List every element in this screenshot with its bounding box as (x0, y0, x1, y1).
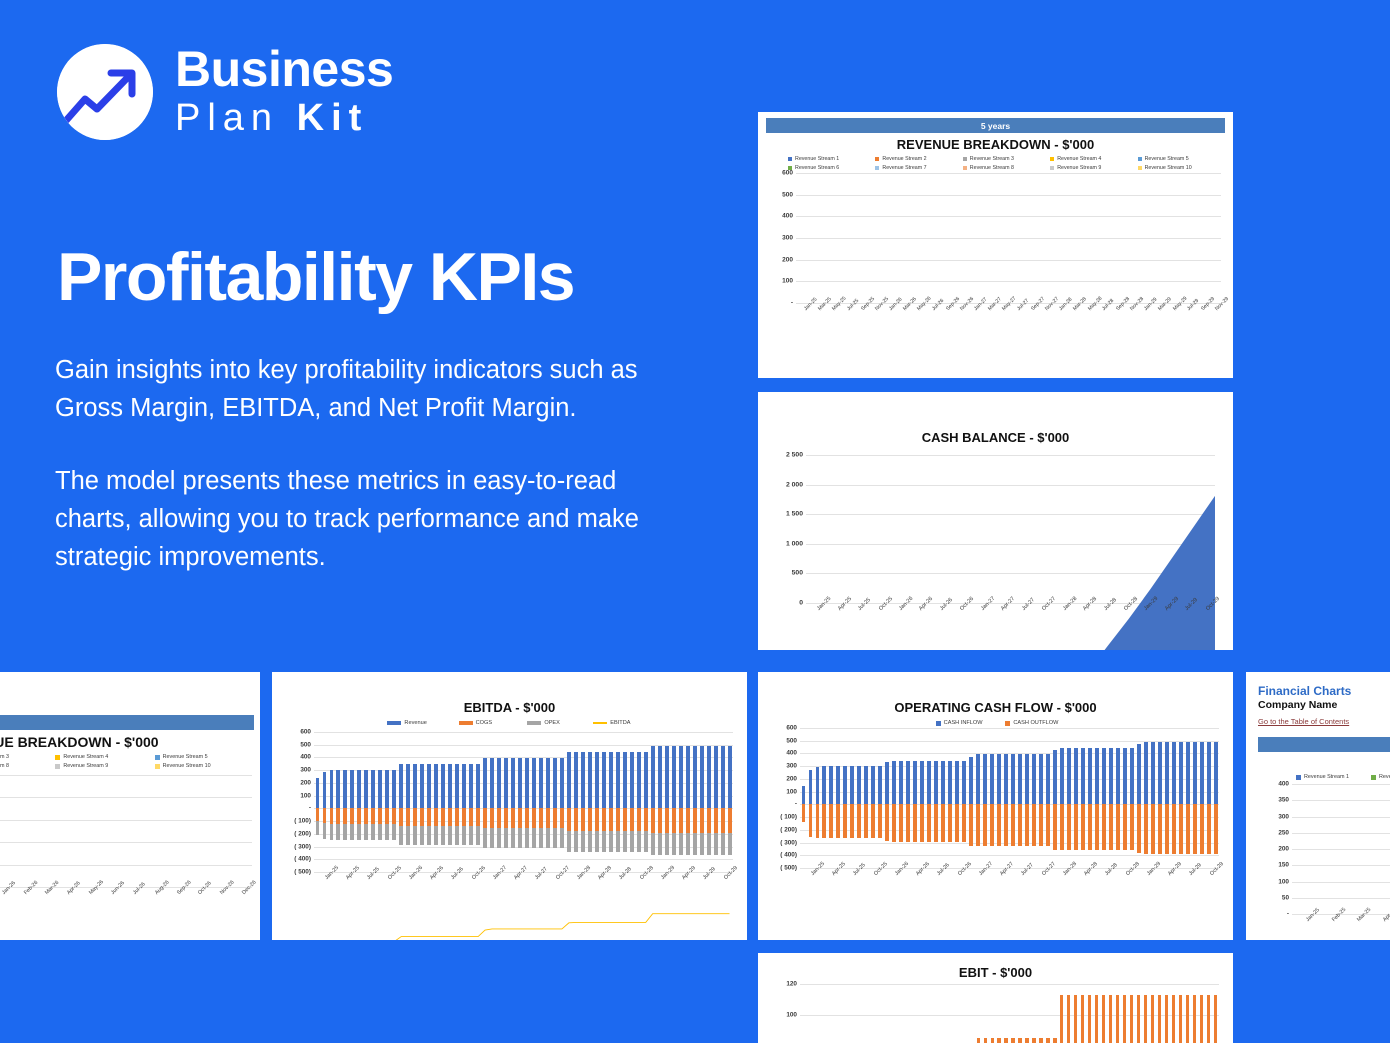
bar-column[interactable] (863, 984, 870, 1043)
bar-column[interactable] (1191, 728, 1198, 868)
bar-column[interactable] (1205, 728, 1212, 868)
bar-column[interactable] (891, 984, 898, 1043)
bar-column[interactable] (1135, 728, 1142, 868)
legend-item[interactable]: Revenue Stream 2 (875, 156, 962, 162)
bar-column[interactable] (684, 732, 691, 872)
bar-column[interactable] (12, 775, 34, 887)
bar-column[interactable] (874, 173, 881, 303)
bar-segment (1144, 804, 1148, 854)
bar-column[interactable] (1115, 173, 1122, 303)
bar-column[interactable] (831, 173, 838, 303)
bar-column[interactable] (1212, 984, 1219, 1043)
bar-column[interactable] (919, 984, 926, 1043)
bar-column[interactable] (1214, 173, 1221, 303)
bar-column[interactable] (1128, 728, 1135, 868)
bar-column[interactable] (412, 732, 419, 872)
bar-column[interactable] (121, 775, 143, 887)
bar-column[interactable] (482, 732, 489, 872)
bar-column[interactable] (1079, 173, 1086, 303)
bar-column[interactable] (1292, 784, 1318, 914)
bar-column[interactable] (821, 984, 828, 1043)
bar-segment (1004, 804, 1008, 846)
bar-column[interactable] (1015, 173, 1022, 303)
bar-column[interactable] (370, 732, 377, 872)
bar-column[interactable] (1107, 984, 1114, 1043)
bar-column[interactable] (1185, 173, 1192, 303)
legend-item[interactable]: EBITDA (578, 720, 646, 726)
bar-column[interactable] (1051, 728, 1058, 868)
legend-item[interactable]: Revenue Stream 3 (0, 754, 55, 760)
bar-column[interactable] (1205, 984, 1212, 1043)
bar-column[interactable] (902, 173, 909, 303)
legend-item[interactable]: Revenue Stream 8 (0, 763, 55, 769)
bar-column[interactable] (938, 173, 945, 303)
bar-column[interactable] (356, 732, 363, 872)
bar-column[interactable] (888, 173, 895, 303)
bar-column[interactable] (593, 732, 600, 872)
bar-column[interactable] (208, 775, 230, 887)
bar-column[interactable] (726, 732, 733, 872)
bar-column[interactable] (0, 775, 12, 887)
bar-column[interactable] (940, 728, 947, 868)
bar-column[interactable] (496, 732, 503, 872)
bar-column[interactable] (1079, 984, 1086, 1043)
bar-column[interactable] (961, 984, 968, 1043)
bar-column[interactable] (867, 173, 874, 303)
bar-segment (1081, 748, 1085, 804)
bar-column[interactable] (1072, 173, 1079, 303)
bar-column[interactable] (828, 984, 835, 1043)
bar-segment (371, 808, 375, 823)
bar-column[interactable] (33, 775, 55, 887)
bar-column[interactable] (335, 732, 342, 872)
table-of-contents-link[interactable]: Go to the Table of Contents (1258, 717, 1349, 726)
bar-column[interactable] (849, 984, 856, 1043)
bar-column[interactable] (405, 732, 412, 872)
bar-column[interactable] (945, 173, 952, 303)
bar-segment (595, 752, 599, 808)
bar-column[interactable] (1100, 728, 1107, 868)
bar-column[interactable] (663, 732, 670, 872)
bar-column[interactable] (838, 173, 845, 303)
bar-column[interactable] (1163, 728, 1170, 868)
bar-column[interactable] (856, 728, 863, 868)
bar-column[interactable] (607, 732, 614, 872)
bar-column[interactable] (510, 732, 517, 872)
bar-column[interactable] (579, 732, 586, 872)
bar-column[interactable] (982, 728, 989, 868)
bar-column[interactable] (1121, 728, 1128, 868)
bar-column[interactable] (551, 732, 558, 872)
bar-column[interactable] (821, 728, 828, 868)
bar-column[interactable] (342, 732, 349, 872)
bar-column[interactable] (503, 732, 510, 872)
bar-column[interactable] (975, 984, 982, 1043)
bar-column[interactable] (1142, 984, 1149, 1043)
bar-column[interactable] (975, 728, 982, 868)
bar-column[interactable] (842, 984, 849, 1043)
bar-column[interactable] (1100, 173, 1107, 303)
bar-column[interactable] (440, 732, 447, 872)
bar-column[interactable] (996, 728, 1003, 868)
bar-column[interactable] (1010, 984, 1017, 1043)
bar-column[interactable] (377, 732, 384, 872)
bar-column[interactable] (1163, 984, 1170, 1043)
bar-column[interactable] (982, 984, 989, 1043)
bar-column[interactable] (863, 728, 870, 868)
bar-column[interactable] (1093, 728, 1100, 868)
bar-column[interactable] (1114, 984, 1121, 1043)
bar-column[interactable] (230, 775, 252, 887)
bar-column[interactable] (558, 732, 565, 872)
legend-item[interactable]: Revenue Stream 10 (155, 763, 254, 769)
legend-item[interactable]: Revenue Stream 5 (155, 754, 254, 760)
bar-column[interactable] (586, 732, 593, 872)
bar-column[interactable] (1003, 984, 1010, 1043)
legend-item[interactable]: Revenue Stream 9 (55, 763, 154, 769)
bar-column[interactable] (1037, 984, 1044, 1043)
bar-column[interactable] (1030, 173, 1037, 303)
bar-column[interactable] (628, 732, 635, 872)
bar-column[interactable] (1086, 984, 1093, 1043)
bar-column[interactable] (828, 728, 835, 868)
bar-column[interactable] (898, 984, 905, 1043)
bar-column[interactable] (1177, 984, 1184, 1043)
bar-column[interactable] (1157, 173, 1164, 303)
legend-item[interactable]: CASH OUTFLOW (996, 720, 1069, 726)
bar-column[interactable] (1058, 728, 1065, 868)
bar-column[interactable] (1030, 728, 1037, 868)
bar-column[interactable] (968, 984, 975, 1043)
bar-column[interactable] (912, 984, 919, 1043)
bar-column[interactable] (670, 732, 677, 872)
bar-column[interactable] (1149, 984, 1156, 1043)
bar-column[interactable] (912, 728, 919, 868)
bar-column[interactable] (419, 732, 426, 872)
bar-column[interactable] (989, 984, 996, 1043)
bar-column[interactable] (895, 173, 902, 303)
y-axis-label: 200 (1259, 846, 1289, 853)
bar-column[interactable] (860, 173, 867, 303)
bar-column[interactable] (649, 732, 656, 872)
legend-label: Revenue Stream 9 (1057, 165, 1101, 171)
bar-column[interactable] (321, 732, 328, 872)
bar-column[interactable] (1024, 728, 1031, 868)
bar-column[interactable] (1010, 728, 1017, 868)
bar-column[interactable] (994, 173, 1001, 303)
bar-column[interactable] (698, 732, 705, 872)
bar-column[interactable] (1024, 984, 1031, 1043)
bar-column[interactable] (800, 984, 807, 1043)
bar-column[interactable] (349, 732, 356, 872)
bar-column[interactable] (1008, 173, 1015, 303)
bar-column[interactable] (1343, 784, 1369, 914)
bar-column[interactable] (712, 732, 719, 872)
bar-column[interactable] (1086, 173, 1093, 303)
bar-column[interactable] (1136, 173, 1143, 303)
bar-column[interactable] (846, 173, 853, 303)
bar-column[interactable] (987, 173, 994, 303)
bar-column[interactable] (531, 732, 538, 872)
bar-column[interactable] (165, 775, 187, 887)
bar-column[interactable] (807, 728, 814, 868)
card-revenue-breakdown-5y[interactable]: 5 yearsREVENUE BREAKDOWN - $'000Revenue … (758, 112, 1233, 378)
legend-swatch (1050, 166, 1054, 170)
bar-column[interactable] (1149, 728, 1156, 868)
legend-item[interactable]: Revenue Stream 6 (1371, 774, 1390, 780)
hero-paragraph-2: The model presents these metrics in easy… (55, 463, 665, 577)
bar-column[interactable] (1142, 728, 1149, 868)
bar-column[interactable] (55, 775, 77, 887)
bar-column[interactable] (1079, 728, 1086, 868)
bar-segment (525, 758, 529, 808)
bar-column[interactable] (1072, 728, 1079, 868)
bar-column[interactable] (544, 732, 551, 872)
bar-column[interactable] (1001, 173, 1008, 303)
legend-item[interactable]: Revenue Stream 10 (1138, 165, 1225, 171)
bar-column[interactable] (314, 732, 321, 872)
bar-column[interactable] (1150, 173, 1157, 303)
legend-item[interactable]: Revenue Stream 5 (1138, 156, 1225, 162)
bar-column[interactable] (475, 732, 482, 872)
bar-column[interactable] (384, 732, 391, 872)
bar-column[interactable] (824, 173, 831, 303)
bar-column[interactable] (1086, 728, 1093, 868)
bar-column[interactable] (524, 732, 531, 872)
bar-column[interactable] (1369, 784, 1390, 914)
bar-column[interactable] (926, 728, 933, 868)
bar-column[interactable] (926, 984, 933, 1043)
legend-item[interactable]: Revenue Stream 4 (55, 754, 154, 760)
bar-column[interactable] (877, 984, 884, 1043)
card-ebit[interactable]: EBIT - $'00012010080 (758, 953, 1233, 1043)
bar-column[interactable] (980, 173, 987, 303)
bar-column[interactable] (853, 173, 860, 303)
bar-column[interactable] (959, 173, 966, 303)
bar-column[interactable] (1122, 173, 1129, 303)
legend-item[interactable]: Revenue Stream 8 (963, 165, 1050, 171)
bar-segment (378, 770, 382, 808)
bar-column[interactable] (719, 732, 726, 872)
bar-column[interactable] (1093, 173, 1100, 303)
bar-column[interactable] (1318, 784, 1344, 914)
bar-column[interactable] (909, 173, 916, 303)
bar-column[interactable] (905, 728, 912, 868)
legend-item[interactable]: COGS (441, 720, 509, 726)
bar-column[interactable] (947, 728, 954, 868)
bar-column[interactable] (1178, 173, 1185, 303)
bar-column[interactable] (842, 728, 849, 868)
bar-column[interactable] (1177, 728, 1184, 868)
bar-column[interactable] (933, 984, 940, 1043)
bar-column[interactable] (1072, 984, 1079, 1043)
bar-column[interactable] (814, 984, 821, 1043)
bar-column[interactable] (923, 173, 930, 303)
bar-column[interactable] (691, 732, 698, 872)
bar-column[interactable] (677, 732, 684, 872)
bar-column[interactable] (614, 732, 621, 872)
bar-column[interactable] (1030, 984, 1037, 1043)
bar-column[interactable] (973, 173, 980, 303)
bar-column[interactable] (940, 984, 947, 1043)
bar-column[interactable] (600, 732, 607, 872)
bar-column[interactable] (1065, 173, 1072, 303)
bar-column[interactable] (835, 728, 842, 868)
legend-item[interactable]: Revenue Stream 7 (875, 165, 962, 171)
bar-column[interactable] (621, 732, 628, 872)
bar-column[interactable] (856, 984, 863, 1043)
bar-column[interactable] (905, 984, 912, 1043)
legend-item[interactable]: CASH INFLOW (923, 720, 996, 726)
bar-column[interactable] (186, 775, 208, 887)
bar-column[interactable] (870, 984, 877, 1043)
bar-column[interactable] (1184, 728, 1191, 868)
bar-column[interactable] (433, 732, 440, 872)
bar-column[interactable] (952, 173, 959, 303)
bar-column[interactable] (705, 732, 712, 872)
bar-column[interactable] (1143, 173, 1150, 303)
legend-item[interactable]: Revenue (373, 720, 441, 726)
bar-column[interactable] (398, 732, 405, 872)
card-cash-balance[interactable]: CASH BALANCE - $'0002 5002 0001 5001 000… (758, 392, 1233, 650)
bar-column[interactable] (1044, 984, 1051, 1043)
bar-column[interactable] (1114, 728, 1121, 868)
bar-column[interactable] (99, 775, 121, 887)
bar-column[interactable] (947, 984, 954, 1043)
legend-item[interactable]: Revenue Stream 1 (788, 156, 875, 162)
bar-column[interactable] (363, 732, 370, 872)
bar-column[interactable] (538, 732, 545, 872)
bar-column[interactable] (426, 732, 433, 872)
bar-column[interactable] (1135, 984, 1142, 1043)
bar-column[interactable] (891, 728, 898, 868)
bar-column[interactable] (1003, 728, 1010, 868)
bar-column[interactable] (1184, 984, 1191, 1043)
bar-column[interactable] (996, 984, 1003, 1043)
bar-column[interactable] (807, 984, 814, 1043)
bar-column[interactable] (1065, 984, 1072, 1043)
bar-column[interactable] (1100, 984, 1107, 1043)
bar-column[interactable] (968, 728, 975, 868)
bar-column[interactable] (328, 732, 335, 872)
bar-column[interactable] (1051, 173, 1058, 303)
card-financial-charts-panel[interactable]: Financial ChartsCompany NameGo to the Ta… (1246, 672, 1390, 940)
bar-column[interactable] (1037, 173, 1044, 303)
bar-column[interactable] (1107, 728, 1114, 868)
bar-column[interactable] (961, 728, 968, 868)
bar-column[interactable] (877, 728, 884, 868)
card-operating-cash-flow[interactable]: OPERATING CASH FLOW - $'000CASH INFLOWCA… (758, 672, 1233, 940)
bar-column[interactable] (1017, 984, 1024, 1043)
bar-segment (885, 804, 889, 841)
bar-column[interactable] (919, 728, 926, 868)
legend-item[interactable]: Revenue Stream 4 (1050, 156, 1137, 162)
bar-column[interactable] (803, 173, 810, 303)
bar-column[interactable] (954, 984, 961, 1043)
bar-column[interactable] (954, 728, 961, 868)
bar-column[interactable] (1044, 173, 1051, 303)
bar-column[interactable] (989, 728, 996, 868)
bar-column[interactable] (810, 173, 817, 303)
bar-column[interactable] (1128, 984, 1135, 1043)
bar-column[interactable] (642, 732, 649, 872)
bar-column[interactable] (1170, 984, 1177, 1043)
bar-column[interactable] (391, 732, 398, 872)
bar-column[interactable] (884, 728, 891, 868)
bar-column[interactable] (916, 173, 923, 303)
bar-column[interactable] (468, 732, 475, 872)
bar-column[interactable] (881, 173, 888, 303)
bar-column[interactable] (1058, 173, 1065, 303)
bar-column[interactable] (1129, 173, 1136, 303)
bar-column[interactable] (454, 732, 461, 872)
bar-column[interactable] (930, 173, 937, 303)
bar-column[interactable] (656, 732, 663, 872)
bar-column[interactable] (635, 732, 642, 872)
bar-column[interactable] (1191, 984, 1198, 1043)
bar-column[interactable] (1171, 173, 1178, 303)
legend-item[interactable]: Revenue Stream 1 (1296, 774, 1371, 780)
bar-column[interactable] (800, 728, 807, 868)
bar-column[interactable] (1199, 173, 1206, 303)
bar-column[interactable] (1207, 173, 1214, 303)
bar-column[interactable] (461, 732, 468, 872)
bar-column[interactable] (1037, 728, 1044, 868)
card-revenue-breakdown-24m[interactable]: 24 monthsREVENUE BREAKDOWN - $'000Revenu… (0, 672, 260, 940)
bar-column[interactable] (1023, 173, 1030, 303)
bar-column[interactable] (1164, 173, 1171, 303)
bar-column[interactable] (814, 728, 821, 868)
bar-column[interactable] (143, 775, 165, 887)
bar-column[interactable] (884, 984, 891, 1043)
bar-column[interactable] (849, 728, 856, 868)
bar-column[interactable] (898, 728, 905, 868)
legend-item[interactable]: OPEX (510, 720, 578, 726)
bar-column[interactable] (565, 732, 572, 872)
card-ebitda[interactable]: EBITDA - $'000RevenueCOGSOPEXEBITDA60050… (272, 672, 747, 940)
bar-column[interactable] (1170, 728, 1177, 868)
bar-column[interactable] (447, 732, 454, 872)
bar-column[interactable] (933, 728, 940, 868)
legend-item[interactable]: Revenue Stream 3 (963, 156, 1050, 162)
bar-column[interactable] (817, 173, 824, 303)
bar-column[interactable] (1017, 728, 1024, 868)
bar-column[interactable] (1065, 728, 1072, 868)
bar-column[interactable] (870, 728, 877, 868)
legend-item[interactable]: Revenue Stream 6 (788, 165, 875, 171)
bar-column[interactable] (1051, 984, 1058, 1043)
bar-column[interactable] (1058, 984, 1065, 1043)
bar-column[interactable] (835, 984, 842, 1043)
bar-column[interactable] (77, 775, 99, 887)
legend-item[interactable]: Revenue Stream 9 (1050, 165, 1137, 171)
bar-column[interactable] (1192, 173, 1199, 303)
bar-column[interactable] (1156, 984, 1163, 1043)
bar-column[interactable] (517, 732, 524, 872)
bar-column[interactable] (1212, 728, 1219, 868)
bar-column[interactable] (966, 173, 973, 303)
bar-column[interactable] (489, 732, 496, 872)
bar-column[interactable] (1198, 728, 1205, 868)
bar-column[interactable] (1093, 984, 1100, 1043)
bar-column[interactable] (1107, 173, 1114, 303)
bar-column[interactable] (1044, 728, 1051, 868)
bar-column[interactable] (796, 173, 803, 303)
bar-column[interactable] (572, 732, 579, 872)
bar-column[interactable] (1198, 984, 1205, 1043)
bar-column[interactable] (1156, 728, 1163, 868)
bar-column[interactable] (1121, 984, 1128, 1043)
